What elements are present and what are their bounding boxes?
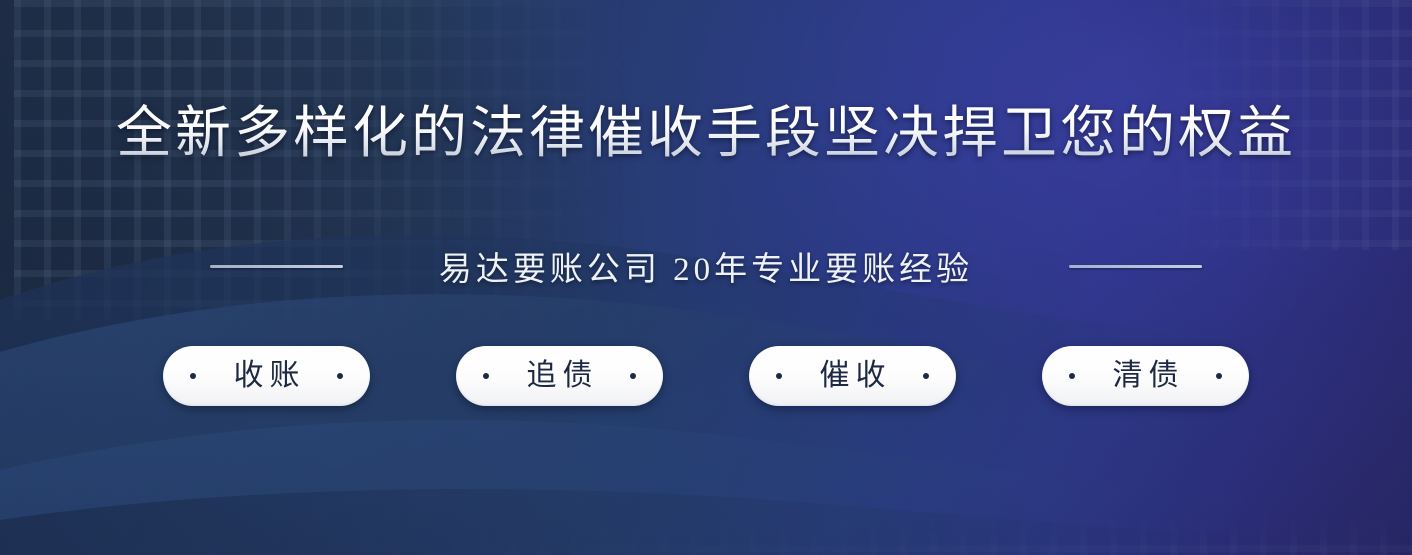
banner-title: 全新多样化的法律催收手段坚决捍卫您的权益: [116, 104, 1296, 164]
service-pill-zhuizhai[interactable]: 追债: [456, 346, 663, 406]
service-pill-shouzhang[interactable]: 收账: [163, 346, 370, 406]
service-pill-label: 催收: [814, 361, 892, 391]
bullet-dot-icon: [923, 373, 929, 379]
bullet-dot-icon: [1069, 373, 1075, 379]
service-pill-label: 追债: [521, 361, 599, 391]
bullet-dot-icon: [337, 373, 343, 379]
service-pill-cuishou[interactable]: 催收: [749, 346, 956, 406]
service-pill-label: 收账: [228, 361, 306, 391]
bullet-dot-icon: [483, 373, 489, 379]
service-pill-label: 清债: [1107, 361, 1185, 391]
bullet-dot-icon: [1216, 373, 1222, 379]
banner-content: 全新多样化的法律催收手段坚决捍卫您的权益 易达要账公司 20年专业要账经验 收账…: [0, 0, 1412, 555]
bullet-dot-icon: [776, 373, 782, 379]
promo-banner: 全新多样化的法律催收手段坚决捍卫您的权益 易达要账公司 20年专业要账经验 收账…: [0, 0, 1412, 555]
bullet-dot-icon: [190, 373, 196, 379]
banner-subtitle: 易达要账公司 20年专业要账经验: [439, 242, 973, 290]
decorative-line-right: [1069, 265, 1202, 268]
banner-subtitle-row: 易达要账公司 20年专业要账经验: [0, 242, 1412, 290]
decorative-line-left: [210, 265, 343, 268]
bullet-dot-icon: [630, 373, 636, 379]
service-pill-row: 收账 追债 催收 清债: [163, 346, 1249, 406]
service-pill-qingzhai[interactable]: 清债: [1042, 346, 1249, 406]
